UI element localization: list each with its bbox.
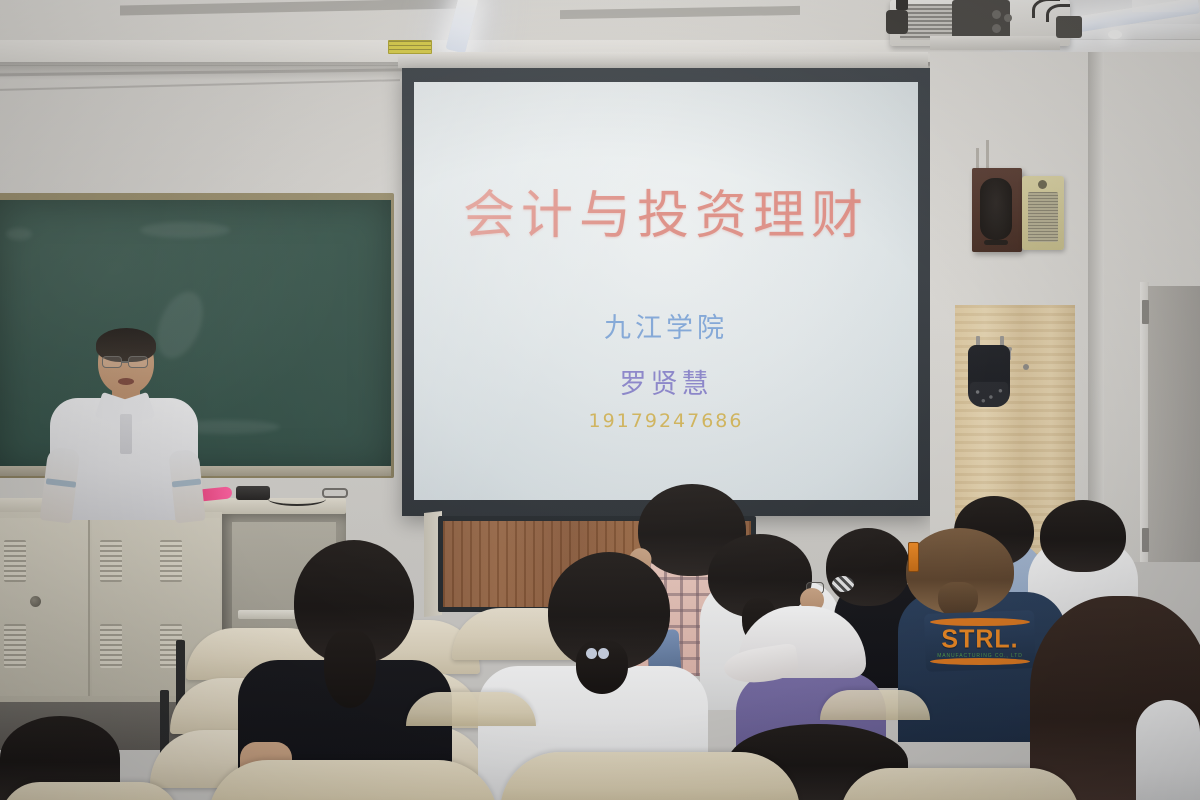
door-hinge-top	[1142, 300, 1149, 324]
slide-phone-number: 19179247686	[414, 410, 918, 432]
light-spot	[1108, 30, 1122, 39]
door-hinge-bottom	[1142, 528, 1149, 552]
warning-label-text-lines	[389, 41, 431, 53]
yellow-warning-label	[388, 40, 432, 54]
slide-organization: 九江学院	[414, 306, 918, 345]
amplifier-grille	[1028, 192, 1058, 242]
student-ponytail-black-top	[324, 630, 376, 708]
speaker-antenna-2	[986, 140, 989, 170]
wall-corner-shadow	[1088, 52, 1104, 562]
desk-black-device[interactable]	[236, 486, 270, 500]
hair-tie-bead-1	[586, 648, 597, 659]
desk-front-left[interactable]	[208, 760, 498, 800]
classroom-door[interactable]	[1148, 286, 1200, 562]
projector-bolt	[896, 0, 908, 10]
projector-mount-bracket	[952, 0, 1010, 40]
console-vent-5	[160, 540, 182, 582]
instructor	[36, 330, 186, 520]
classroom-lecture-photo: 会计与投资理财 九江学院 罗贤慧 19179247686	[0, 0, 1200, 800]
console-vent-3	[100, 540, 122, 582]
console-lock[interactable]	[30, 596, 41, 607]
orange-hair-clip	[908, 542, 919, 572]
light-glow-corner	[1132, 0, 1200, 12]
desk-mid-left[interactable]	[406, 692, 536, 726]
projector-knob-2	[992, 24, 1001, 33]
screen-housing	[398, 52, 928, 68]
slide-title: 会计与投资理财	[414, 190, 918, 242]
projector-vent	[900, 4, 954, 40]
speaker-cone	[980, 178, 1012, 240]
desk-mid-right[interactable]	[820, 690, 930, 720]
wall-fixture-dot	[1023, 364, 1029, 370]
hair-tie-bead-2	[598, 648, 609, 659]
desk-front-right[interactable]	[840, 768, 1080, 800]
console-vent-1	[4, 540, 26, 582]
instructor-shirt-placket	[120, 414, 132, 454]
chalk-smudge-1	[140, 222, 230, 238]
student-head-right-row	[826, 528, 910, 606]
projector-knob-3	[1004, 14, 1012, 22]
student-white-sleeve-front-right	[1136, 700, 1200, 800]
projector-mount-arm	[930, 36, 1060, 50]
student-head-far-right	[1040, 500, 1126, 572]
projector-connector-block	[1056, 16, 1082, 38]
strl-logo-text: STRL.	[930, 623, 1030, 655]
strl-swoosh-bottom	[930, 658, 1030, 665]
desk-front-center[interactable]	[500, 752, 800, 800]
eyeglasses-bridge	[122, 361, 128, 363]
projector-lens	[886, 10, 908, 34]
chalk-smudge-3	[6, 228, 32, 240]
console-vent-4	[100, 624, 122, 668]
eyeglasses-lens-right	[128, 356, 148, 368]
desk-cable	[268, 492, 326, 506]
projector-knob-1	[992, 10, 1001, 19]
speaker-port	[984, 240, 1008, 245]
projection-screen-surface	[414, 82, 918, 500]
instructor-mouth	[118, 378, 134, 385]
slide-presenter-name: 罗贤慧	[414, 362, 918, 401]
console-vent-2	[4, 624, 26, 668]
eyeglasses-lens-left	[102, 356, 122, 368]
bag-pattern	[970, 382, 1008, 407]
desk-clip[interactable]	[322, 488, 348, 498]
amplifier-logo-icon	[1038, 180, 1047, 189]
scrunchie-hair-tie	[832, 576, 854, 592]
desk-front-far-left[interactable]	[0, 782, 180, 800]
